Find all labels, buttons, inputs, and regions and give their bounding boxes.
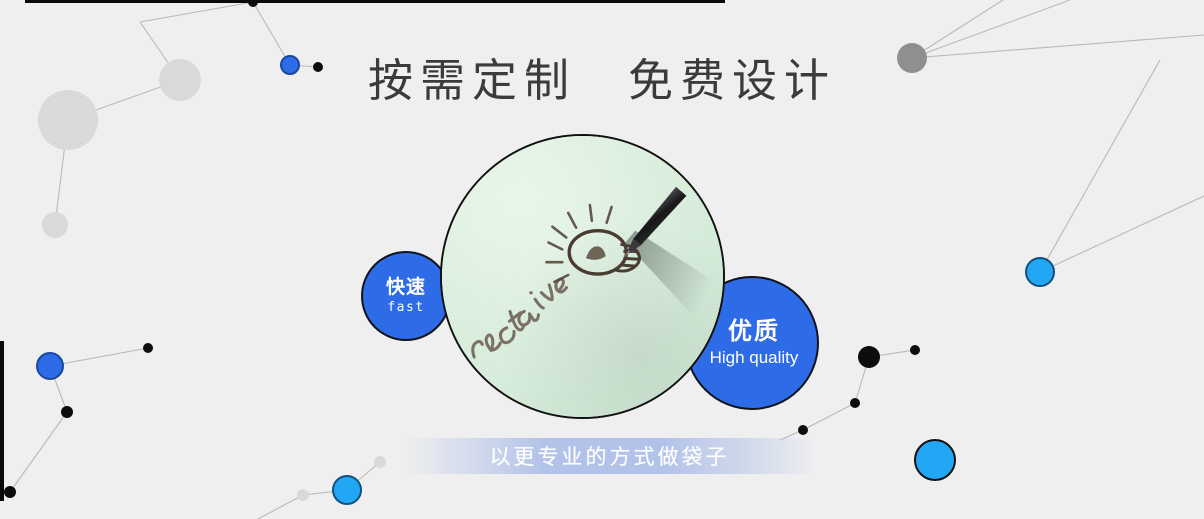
slogan-text: 以更专业的方式做袋子: [490, 441, 730, 471]
creative-photo-circle: [440, 134, 725, 419]
lightbulb-sketch-icon: [442, 136, 723, 417]
network-edge: [140, 2, 253, 22]
network-node: [915, 440, 955, 480]
feature-bubble-fast-en: fast: [387, 300, 424, 315]
network-edge: [50, 348, 148, 366]
network-node: [333, 476, 361, 504]
network-node: [37, 353, 63, 379]
network-node: [61, 406, 73, 418]
top-edge-bar: [25, 0, 725, 3]
feature-bubble-fast[interactable]: 快速 fast: [361, 251, 451, 341]
network-node: [297, 489, 309, 501]
network-node: [42, 212, 68, 238]
feature-bubble-quality-cn: 优质: [724, 318, 780, 347]
network-node: [798, 425, 808, 435]
page-title: 按需定制 免费设计: [0, 44, 1204, 109]
network-node: [143, 343, 153, 353]
network-node: [4, 486, 16, 498]
network-edge: [258, 495, 303, 519]
network-edge: [1040, 196, 1204, 272]
slogan-ribbon: 以更专业的方式做袋子: [402, 438, 817, 474]
feature-bubble-fast-cn: 快速: [386, 277, 426, 299]
network-node: [1026, 258, 1054, 286]
promo-banner: 按需定制 免费设计: [0, 0, 1204, 519]
network-node: [374, 456, 386, 468]
network-edge: [10, 412, 67, 492]
network-edge: [803, 403, 855, 430]
network-node: [910, 345, 920, 355]
network-node: [850, 398, 860, 408]
network-node: [858, 346, 880, 368]
left-edge-bar: [0, 341, 4, 501]
